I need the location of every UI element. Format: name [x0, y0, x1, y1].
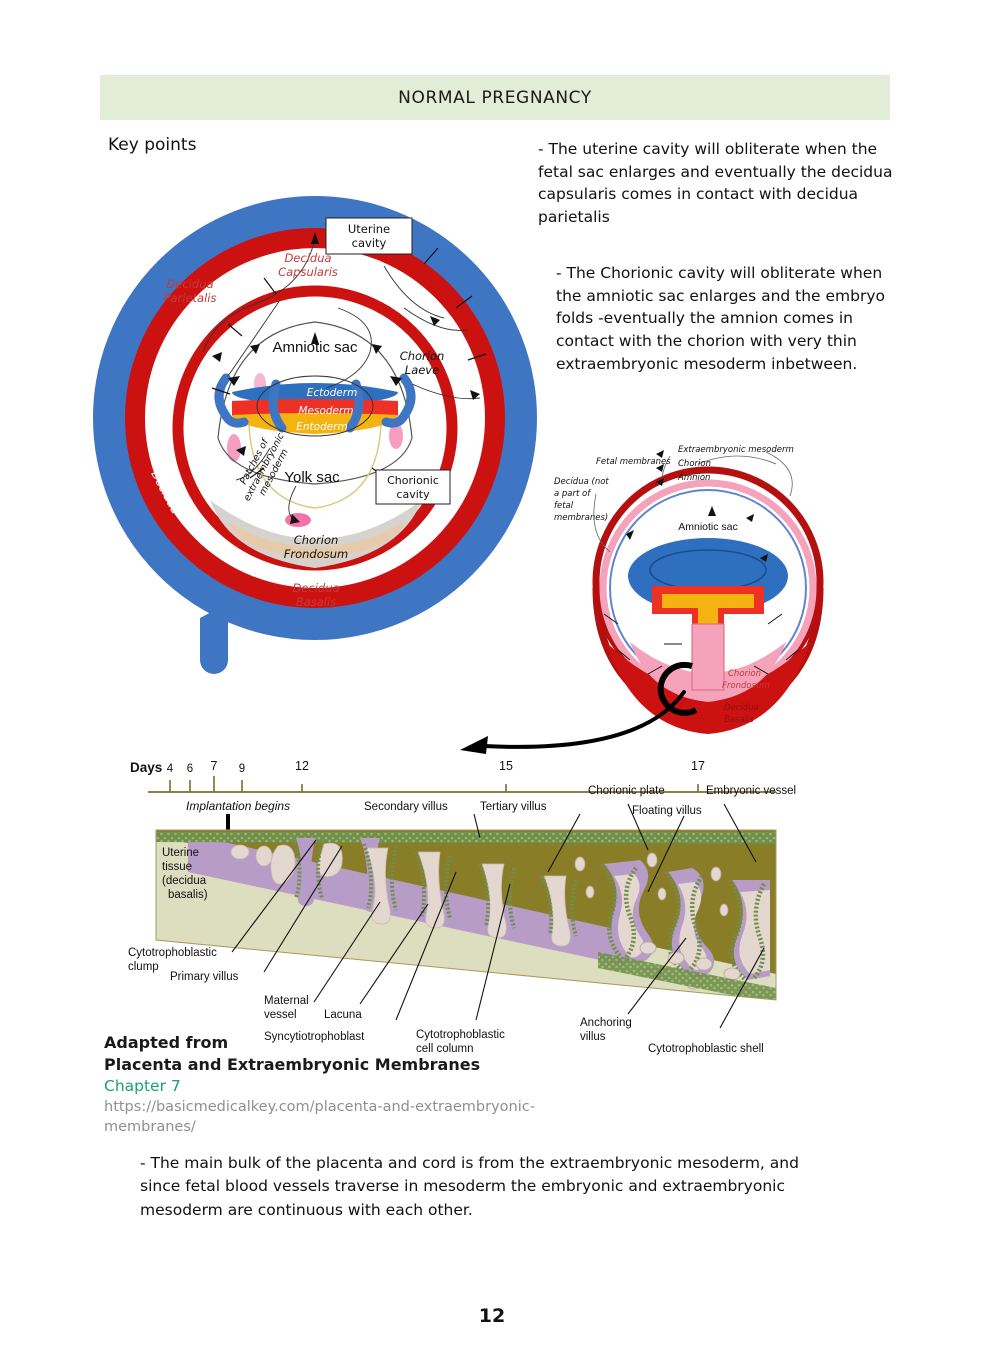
- label-embryonic-vessel: Embryonic vessel: [706, 785, 796, 797]
- tick-day-17: 17: [691, 759, 705, 773]
- figure-villus-timeline: Days 4 6 7 9 12 15 17 Implantation begin…: [128, 752, 788, 1062]
- label-mesoderm: Mesoderm: [298, 405, 353, 417]
- label-cytotrophoblastic-shell: Cytotrophoblastic shell: [648, 1043, 764, 1055]
- label-tertiary-villus: Tertiary villus: [480, 801, 547, 813]
- label-chorion-frondosum-line1: Chorion: [294, 533, 339, 547]
- label-maternal-vessel-line2: vessel: [264, 1009, 297, 1021]
- label-maternal-vessel-line1: Maternal: [264, 995, 309, 1007]
- label-decidua-note-line2: a part of: [554, 489, 592, 499]
- label-cytotrophoblastic-clump-line2: clump: [128, 961, 159, 973]
- note-uterine-cavity: - The uterine cavity will obliterate whe…: [538, 138, 900, 229]
- label-decidua-capsularis-line2: Capsularis: [278, 265, 338, 279]
- label-secondary-villus: Secondary villus: [364, 801, 448, 813]
- label-ectoderm: Ectoderm: [307, 387, 358, 399]
- label-decidua-capsularis-line1: Decidua: [284, 251, 331, 265]
- note-chorionic-cavity: - The Chorionic cavity will obliterate w…: [556, 262, 904, 375]
- tick-day-15: 15: [499, 759, 513, 773]
- tick-day-7: 7: [211, 759, 218, 773]
- label-anchoring-villus-line1: Anchoring: [580, 1017, 632, 1029]
- label-entoderm: Entoderm: [296, 421, 348, 433]
- citation-source-title: Placenta and Extraembryonic Membranes: [104, 1054, 624, 1076]
- label-decidua-basalis-line1: Decidua: [292, 581, 339, 595]
- label-amniotic-sac: Amniotic sac: [272, 339, 358, 356]
- label-uterine-tissue-line1: Uterine: [162, 847, 199, 859]
- label-chorion-frondosum-line2: Frondosum: [284, 547, 349, 561]
- label-decidua-basalis-line2: Basalis: [296, 595, 336, 609]
- page-title: NORMAL PREGNANCY: [100, 75, 890, 120]
- label-uterine-cavity-line1: Uterine: [348, 222, 390, 236]
- label-decidua-basalis-small-line1: Decidua: [724, 703, 759, 713]
- label-box-uterine-cavity: Uterine cavity: [326, 218, 412, 254]
- figure-uterus-cross-section: Myometrium Uterine cavity Decidua Capsul…: [100, 148, 530, 668]
- label-chorion: Chorion: [678, 459, 711, 469]
- label-uterine-tissue-line4: basalis): [168, 889, 208, 901]
- label-decidua-note-line1: Decidua (not: [554, 477, 609, 487]
- label-cytotrophoblastic-clump-line1: Cytotrophoblastic: [128, 947, 217, 959]
- connector-arrow-path: [484, 692, 684, 747]
- label-amniotic-sac-small: Amniotic sac: [678, 521, 738, 533]
- label-extraembryonic-mesoderm: Extraembryonic mesoderm: [678, 445, 794, 455]
- timeline-axis: [148, 776, 776, 792]
- page-header-banner: NORMAL PREGNANCY: [100, 75, 890, 120]
- label-floating-villus: Floating villus: [632, 805, 702, 817]
- citation-url[interactable]: https://basicmedicalkey.com/placenta-and…: [104, 1098, 624, 1136]
- label-chorionic-cavity-line2: cavity: [396, 488, 430, 501]
- label-chorion-laeve-line1: Chorion: [400, 349, 445, 363]
- label-decidua-parietalis-line2: Parietalis: [164, 291, 217, 305]
- tick-day-9: 9: [239, 763, 245, 775]
- label-chorion-frondosum-small-line1: Chorion: [728, 669, 761, 679]
- mesoderm-patch-left: [227, 434, 241, 462]
- label-chorionic-plate: Chorionic plate: [588, 785, 665, 797]
- document-page: NORMAL PREGNANCY Key points: [0, 0, 984, 1369]
- tick-day-12: 12: [295, 759, 309, 773]
- label-lacuna: Lacuna: [324, 1009, 362, 1021]
- label-yolk-sac: Yolk sac: [284, 469, 340, 486]
- label-uterine-tissue-line2: tissue: [162, 861, 192, 873]
- label-uterine-tissue-line3: (decidua: [162, 875, 207, 887]
- histology-slab: [156, 830, 776, 1004]
- tick-day-4: 4: [167, 763, 174, 775]
- label-uterine-cavity-line2: cavity: [352, 236, 387, 250]
- page-number: 12: [0, 1305, 984, 1327]
- label-decidua-basalis-small-line2: Basalis: [724, 715, 754, 725]
- label-chorion-frondosum-small-line2: Frondosum: [722, 681, 770, 691]
- label-chorion-laeve-line2: Laeve: [405, 363, 439, 377]
- label-myometrium: Myometrium: [279, 181, 352, 195]
- label-primary-villus: Primary villus: [170, 971, 239, 983]
- label-amnion: Amnion: [677, 473, 710, 483]
- label-decidua-note-line4: membranes): [554, 513, 608, 523]
- label-chorionic-cavity-line1: Chorionic: [387, 474, 439, 487]
- label-decidua-note-line3: fetal: [554, 501, 574, 511]
- note-placenta-bulk: - The main bulk of the placenta and cord…: [140, 1152, 840, 1222]
- citation-block: Adapted from Placenta and Extraembryonic…: [104, 1032, 624, 1137]
- citation-adapted-from: Adapted from: [104, 1032, 624, 1054]
- label-implantation-begins: Implantation begins: [186, 799, 290, 813]
- tick-day-6: 6: [187, 763, 193, 775]
- label-days: Days: [130, 760, 162, 775]
- label-box-chorionic-cavity: Chorionic cavity: [376, 470, 450, 504]
- label-decidua-parietalis-line1: Decidua: [166, 277, 213, 291]
- citation-chapter: Chapter 7: [104, 1075, 624, 1098]
- label-fetal-membranes: Fetal membranes: [596, 457, 671, 467]
